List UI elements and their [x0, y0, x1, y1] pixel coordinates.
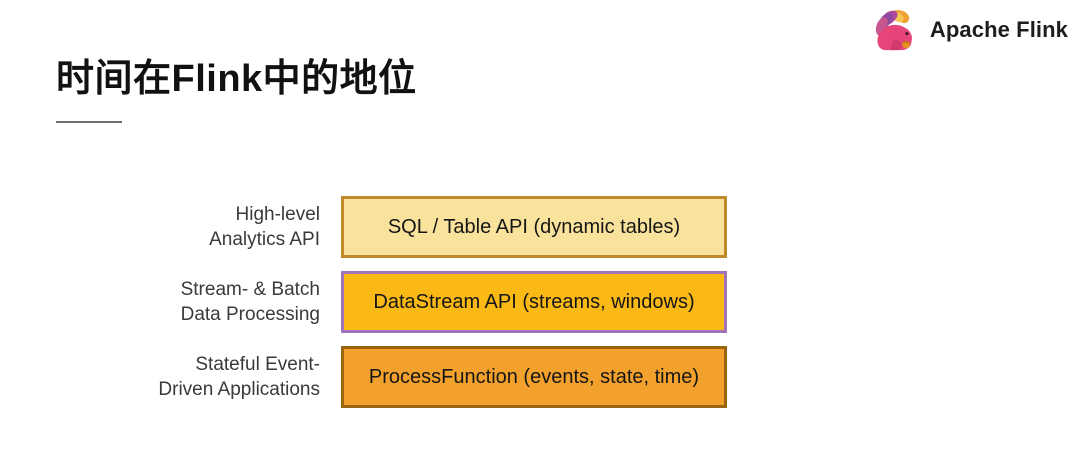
page-title: 时间在Flink中的地位 — [56, 47, 417, 102]
stack-row-label-stateful-event-driven: Stateful Event- Driven Applications — [0, 352, 341, 402]
stack-row: Stateful Event- Driven Applications Proc… — [0, 346, 1080, 408]
stack-box-datastream-api: DataStream API (streams, windows) — [341, 271, 727, 333]
stack-row: Stream- & Batch Data Processing DataStre… — [0, 271, 1080, 333]
api-stack-diagram: High-level Analytics API SQL / Table API… — [0, 196, 1080, 408]
stack-row: High-level Analytics API SQL / Table API… — [0, 196, 1080, 258]
stack-row-label-stream-batch: Stream- & Batch Data Processing — [0, 277, 341, 327]
title-underline-rule — [56, 121, 122, 123]
brand-lockup: Apache Flink — [872, 8, 1068, 52]
stack-row-label-high-level: High-level Analytics API — [0, 202, 341, 252]
stack-box-processfunction: ProcessFunction (events, state, time) — [341, 346, 727, 408]
stack-box-sql-table-api: SQL / Table API (dynamic tables) — [341, 196, 727, 258]
flink-squirrel-logo-icon — [872, 8, 918, 52]
brand-name: Apache Flink — [930, 17, 1068, 43]
